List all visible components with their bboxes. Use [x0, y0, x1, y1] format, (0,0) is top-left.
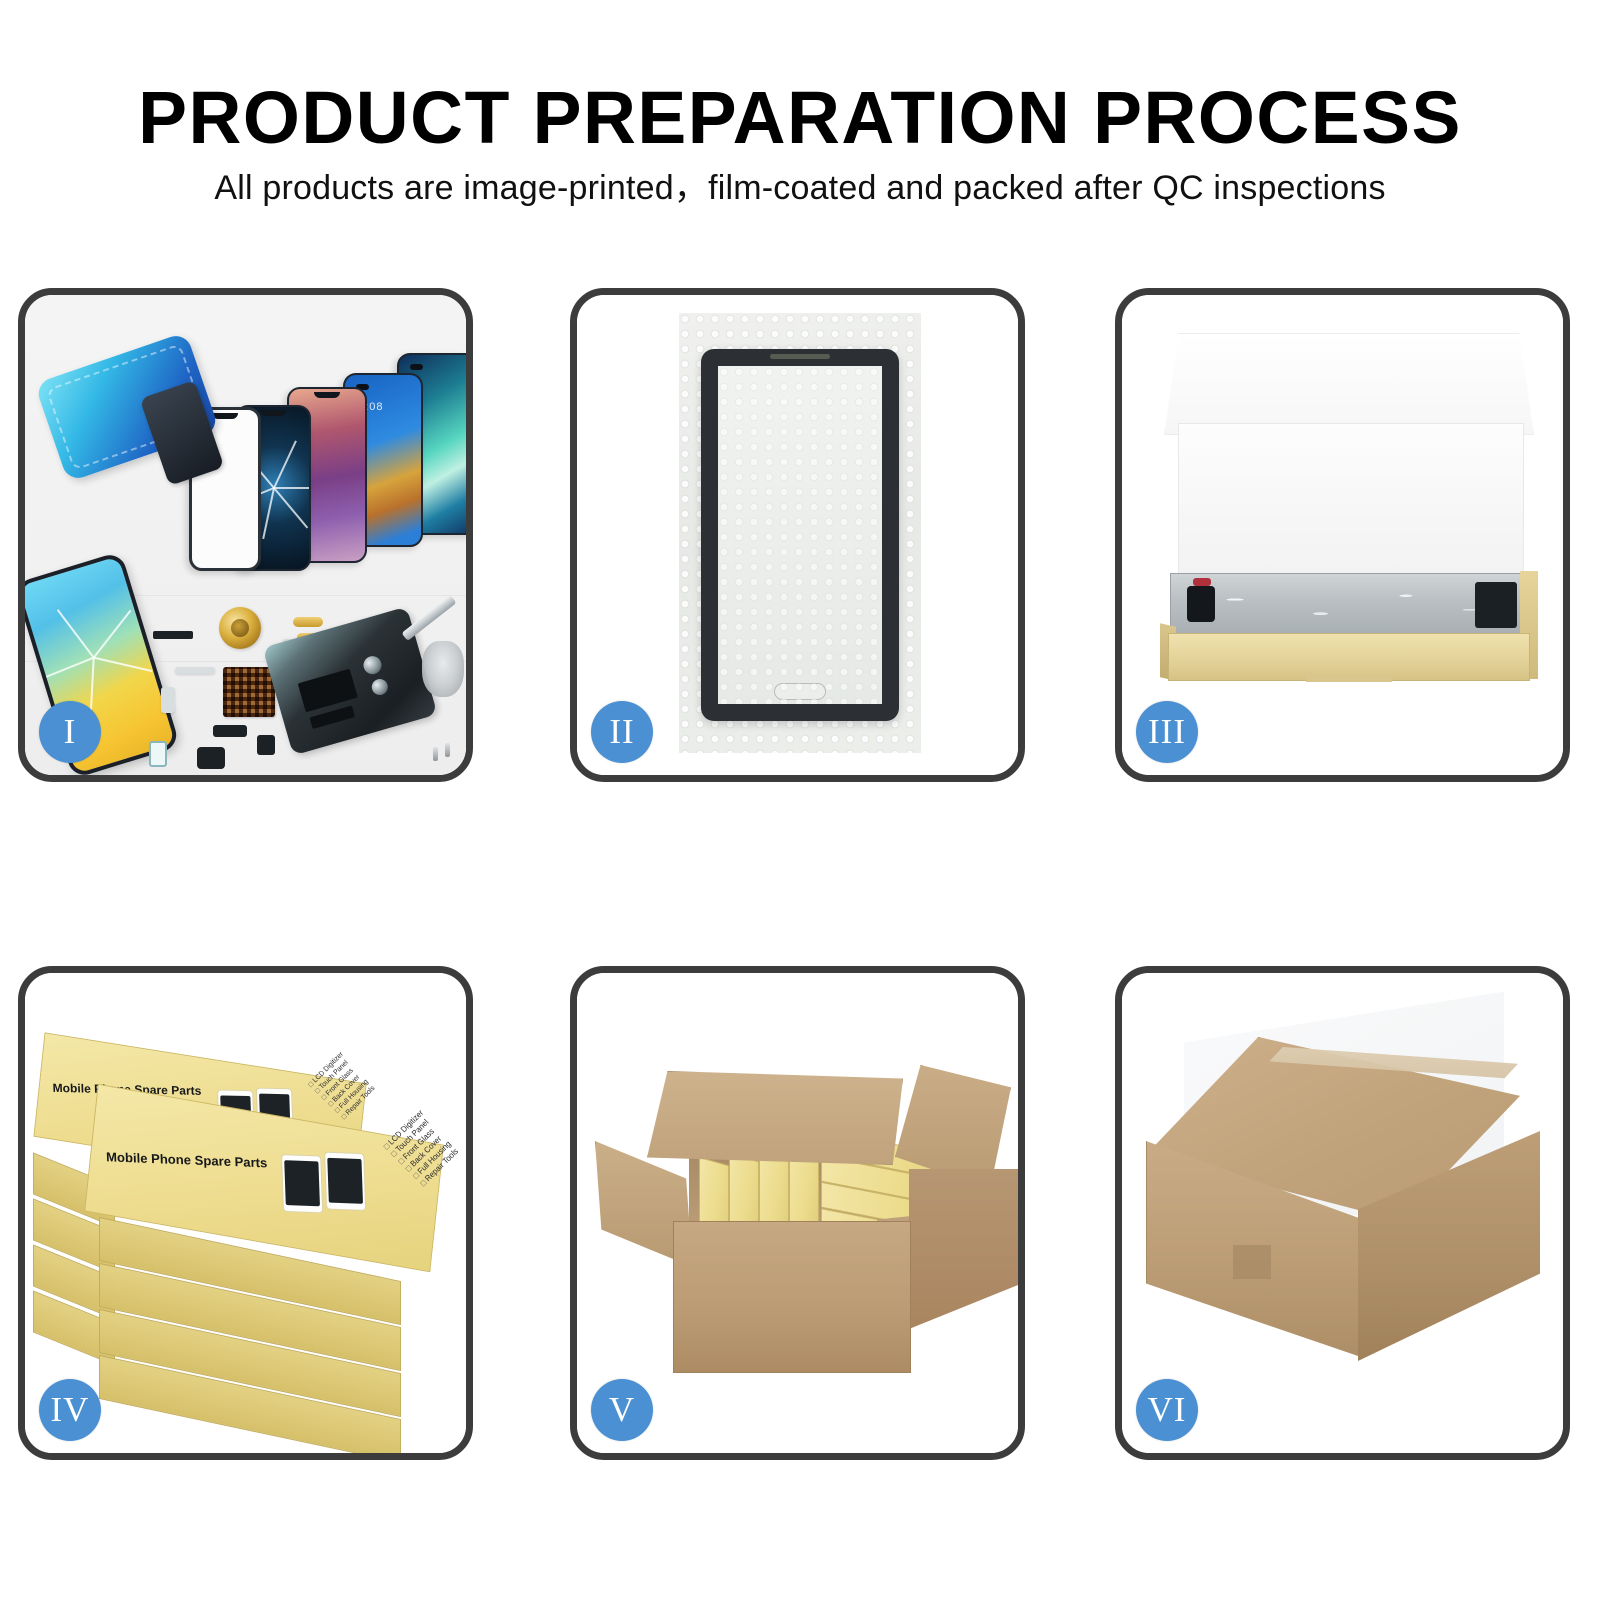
panel-step-1[interactable]: 08:08 [18, 288, 473, 782]
sim-tray [149, 741, 167, 767]
ic-chip-grid [223, 667, 275, 717]
punch-hole-icon [410, 364, 423, 370]
notch-icon [212, 413, 238, 419]
crack-line [274, 487, 311, 489]
box-inner-wall [1178, 423, 1524, 583]
tape-tab [1233, 1245, 1271, 1279]
step-badge-5: V [591, 1379, 653, 1441]
step-badge-3: III [1136, 701, 1198, 763]
screw-icon [433, 747, 438, 761]
crack-line [57, 609, 95, 658]
crack-line [273, 487, 308, 528]
step-badge-6: VI [1136, 1379, 1198, 1441]
notch-icon [314, 392, 340, 398]
panel-step-5[interactable]: V [570, 966, 1025, 1460]
wireless-charging-coil [219, 607, 261, 649]
small-flex [161, 687, 175, 713]
spare-parts-photo: 08:08 [25, 295, 466, 775]
crack-line [93, 657, 152, 672]
screen-connector [1187, 586, 1215, 622]
carton-filling-photo [577, 973, 1018, 1453]
screen-edge-dark [1475, 582, 1517, 628]
camera-module [257, 735, 275, 755]
screen-digitizer [701, 349, 899, 721]
screw-icon [445, 743, 450, 757]
cleaning-brush-icon [422, 641, 464, 697]
red-marker [1193, 578, 1211, 586]
crack-line [38, 657, 94, 681]
sealed-carton-photo [1122, 973, 1563, 1453]
step-badge-4: IV [39, 1379, 101, 1441]
single-box-packing-photo [1122, 295, 1563, 775]
panel-step-4[interactable]: Mobile Phone Spare Parts LCD Digitizer T… [18, 966, 473, 1460]
wrapped-screen-in-tray [1170, 573, 1528, 639]
box-front-wall [1168, 633, 1530, 681]
step-badge-1: I [39, 701, 101, 763]
page-subtitle: All products are image-printed，film-coat… [0, 168, 1600, 208]
page-header: PRODUCT PREPARATION PROCESS All products… [0, 0, 1600, 250]
panel-step-6[interactable]: VI [1115, 966, 1570, 1460]
box-phone-image [324, 1152, 366, 1211]
page-title: PRODUCT PREPARATION PROCESS [8, 78, 1592, 158]
box-front-tab [1306, 674, 1392, 682]
taptic-engine [197, 747, 225, 769]
bubble-wrapped-screen-photo [577, 295, 1018, 775]
panel-step-2[interactable]: II [570, 288, 1025, 782]
bubble-wrap-shine [1171, 574, 1527, 638]
box-lid-flap [1164, 333, 1534, 435]
box-phone-image [281, 1154, 323, 1213]
flex-cable [175, 667, 215, 674]
process-panel-grid: 08:08 [18, 288, 1582, 1438]
panel-step-3[interactable]: III [1115, 288, 1570, 782]
crack-line [262, 488, 275, 539]
carton-front-wall [673, 1221, 911, 1373]
flex-gold-connector [293, 617, 323, 627]
earpiece-speaker [153, 631, 193, 639]
camera-lens-icon [370, 677, 390, 697]
crack-line [93, 610, 132, 659]
bubble-texture-overlay [718, 366, 882, 704]
stacked-retail-boxes-photo: Mobile Phone Spare Parts LCD Digitizer T… [25, 973, 466, 1453]
vibration-motor [213, 725, 247, 737]
camera-lens-icon [361, 654, 383, 676]
step-badge-2: II [591, 701, 653, 763]
crack-line [273, 440, 297, 488]
notch-icon [260, 410, 286, 416]
earpiece-slot-icon [770, 354, 830, 359]
carton-flap-back [647, 1071, 903, 1165]
